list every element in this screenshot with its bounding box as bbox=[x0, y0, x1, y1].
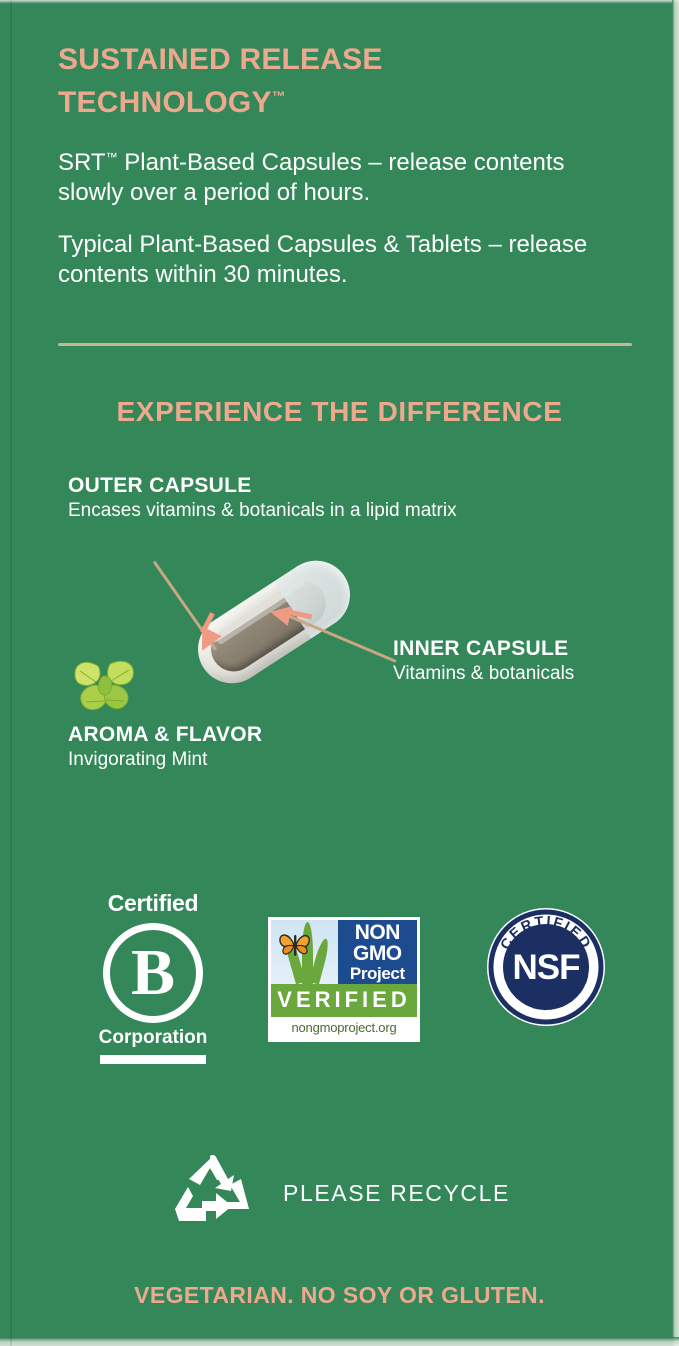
please-recycle-row: PLEASE RECYCLE bbox=[0, 1148, 679, 1238]
nongmo-project-verified-logo: NON GMO Project VERIFIED nongmoproject.o… bbox=[268, 917, 420, 1042]
nsf-certified-gluten-free-seal: CERTIFIED GLUTEN-FREE NSF bbox=[487, 908, 605, 1026]
bcorp-underline-bar bbox=[100, 1055, 206, 1064]
nongmo-meadow-artwork bbox=[271, 920, 338, 984]
nongmo-url-text: nongmoproject.org bbox=[271, 1017, 417, 1039]
nongmo-gmo-text: GMO bbox=[353, 943, 402, 964]
srt-description-rest: Plant-Based Capsules – release contents … bbox=[58, 149, 565, 206]
bcorp-letter-b: B bbox=[131, 943, 175, 1003]
sustained-release-technology-title: SUSTAINED RELEASE TECHNOLOGY™ bbox=[58, 42, 618, 121]
experience-the-difference-heading: EXPERIENCE THE DIFFERENCE bbox=[0, 396, 679, 428]
typical-capsules-paragraph: Typical Plant-Based Capsules & Tablets –… bbox=[58, 230, 620, 290]
callout-outer-capsule: OUTER CAPSULE Encases vitamins & botanic… bbox=[68, 473, 468, 523]
callout-outer-capsule-subtitle: Encases vitamins & botanicals in a lipid… bbox=[68, 499, 468, 523]
recycle-icon bbox=[169, 1153, 255, 1233]
footer-dietary-claim: VEGETARIAN. NO SOY OR GLUTEN. bbox=[0, 1282, 679, 1309]
trademark-symbol: ™ bbox=[272, 88, 286, 104]
nsf-letters: NSF bbox=[513, 950, 580, 985]
bcorp-corporation-label: Corporation bbox=[88, 1027, 218, 1049]
callout-inner-capsule-title: INNER CAPSULE bbox=[393, 636, 663, 662]
srt-label: SRT bbox=[58, 149, 106, 176]
nsf-center-disc: NSF bbox=[503, 924, 589, 1010]
mint-leaf-icon bbox=[66, 652, 146, 720]
bcorp-logo: Certified B Corporation bbox=[88, 890, 218, 1064]
nongmo-non-text: NON bbox=[355, 922, 400, 943]
srt-title-line1: SUSTAINED RELEASE bbox=[58, 43, 383, 76]
callout-aroma-flavor: AROMA & FLAVOR Invigorating Mint bbox=[68, 722, 398, 772]
nongmo-upper-section: NON GMO Project bbox=[271, 920, 417, 984]
callout-outer-capsule-title: OUTER CAPSULE bbox=[68, 473, 468, 499]
trademark-symbol: ™ bbox=[106, 150, 118, 164]
srt-title-line2: TECHNOLOGY bbox=[58, 86, 272, 119]
section-divider bbox=[58, 343, 632, 346]
nongmo-project-text: Project bbox=[350, 965, 405, 982]
callout-inner-capsule: INNER CAPSULE Vitamins & botanicals bbox=[393, 636, 663, 686]
nongmo-verified-banner: VERIFIED bbox=[271, 984, 417, 1016]
bcorp-certified-label: Certified bbox=[88, 890, 218, 917]
panel-content: SUSTAINED RELEASE TECHNOLOGY™ SRT™ Plant… bbox=[0, 0, 679, 1346]
callout-aroma-flavor-title: AROMA & FLAVOR bbox=[68, 722, 398, 748]
srt-description-paragraph: SRT™ Plant-Based Capsules – release cont… bbox=[58, 142, 620, 208]
nongmo-text-block: NON GMO Project bbox=[338, 920, 417, 984]
please-recycle-label: PLEASE RECYCLE bbox=[283, 1180, 510, 1207]
callout-aroma-flavor-subtitle: Invigorating Mint bbox=[68, 748, 398, 772]
certification-badges-row: Certified B Corporation bbox=[0, 890, 679, 1070]
product-package-panel: SUSTAINED RELEASE TECHNOLOGY™ SRT™ Plant… bbox=[0, 0, 679, 1346]
callout-inner-capsule-subtitle: Vitamins & botanicals bbox=[393, 662, 663, 686]
butterfly-icon bbox=[277, 930, 313, 960]
capsule-illustration bbox=[178, 560, 378, 685]
arrow-inner-capsule-icon bbox=[268, 602, 292, 626]
bcorp-circle-icon: B bbox=[103, 923, 203, 1023]
